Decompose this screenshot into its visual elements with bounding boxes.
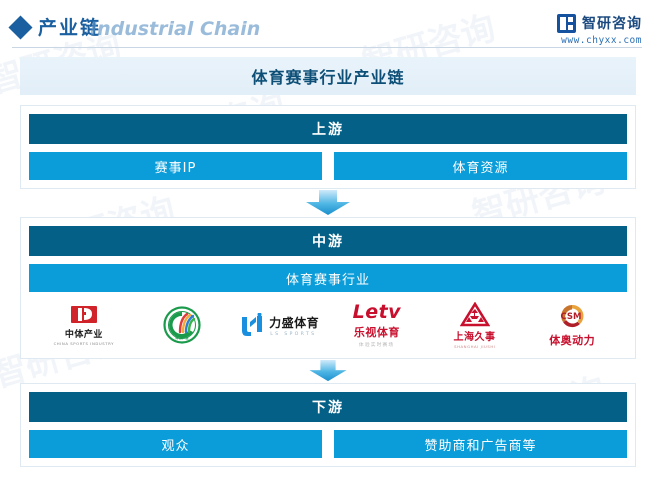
header-divider — [12, 47, 642, 48]
chart-title: 体育赛事行业产业链 — [20, 57, 636, 95]
green-emblem-logo-icon: 体育产业 — [163, 306, 201, 344]
csm-tiao-dongli-logo-icon: CSM — [555, 303, 589, 330]
stage-header-midstream: 中游 — [29, 226, 627, 256]
stage-downstream: 下游 观众 赞助商和广告商等 — [20, 383, 636, 467]
company-logo-letv-sports[interactable]: Letv 乐视体育 体验实时赛场 — [328, 303, 426, 348]
company-logo-green-emblem[interactable]: 体育产业 — [133, 306, 231, 344]
company-name-en: CHINA SPORTS INDUSTRY — [54, 341, 114, 346]
company-logo-zhongti-chanye[interactable]: 中体产业 CHINA SPORTS INDUSTRY — [35, 304, 133, 346]
industrial-chain-chart: 体育赛事行业产业链 上游 赛事IP 体育资源 中游 体育赛事行业 — [0, 57, 656, 467]
svg-text:体育产业: 体育产业 — [174, 335, 189, 340]
company-name-cn: 乐视体育 — [354, 324, 400, 340]
zhongti-chanye-logo-icon — [69, 304, 99, 326]
company-name-en: SHANGHAI JIUSHI — [454, 344, 495, 349]
brand-url: www.chyxx.com — [561, 35, 642, 46]
lisheng-sports-logo-icon — [239, 313, 265, 337]
stage-header-upstream: 上游 — [29, 114, 627, 144]
company-logo-csm-tiao-dongli[interactable]: CSM 体奥动力 — [523, 303, 621, 348]
midstream-company-logos: 中体产业 CHINA SPORTS INDUSTRY 体育产业 — [29, 298, 627, 350]
midstream-item-main[interactable]: 体育赛事行业 — [29, 264, 627, 292]
brand-logo: 智研咨询 www.chyxx.com — [557, 13, 642, 46]
downstream-items: 观众 赞助商和广告商等 — [29, 430, 627, 458]
company-tagline: 体验实时赛场 — [359, 341, 394, 348]
upstream-items: 赛事IP 体育资源 — [29, 152, 627, 180]
upstream-item-0[interactable]: 赛事IP — [29, 152, 322, 180]
company-name-cn: 力盛体育 — [269, 314, 319, 331]
diamond-icon — [8, 15, 32, 39]
company-name-en: Letv — [353, 303, 401, 322]
stage-header-downstream: 下游 — [29, 392, 627, 422]
downstream-item-0[interactable]: 观众 — [29, 430, 322, 458]
down-arrow-icon — [304, 190, 352, 216]
brand-logo-row: 智研咨询 — [557, 13, 642, 33]
stage-midstream: 中游 体育赛事行业 中体产业 CHINA SPORTS INDUSTRY — [20, 217, 636, 359]
arrow-upstream-to-midstream — [20, 189, 636, 217]
downstream-item-1[interactable]: 赞助商和广告商等 — [334, 430, 627, 458]
company-logo-shanghai-jiushi[interactable]: 上海久事 SHANGHAI JIUSHI — [426, 302, 524, 349]
section-label-group: 产业链 Industrial Chain — [12, 13, 101, 40]
company-name-cn: 中体产业 — [65, 327, 103, 340]
page-subtitle-en: Industrial Chain — [90, 18, 260, 40]
down-arrow-icon — [306, 360, 350, 382]
company-name-cn: 体奥动力 — [549, 332, 595, 348]
company-name-cn: 上海久事 — [454, 328, 496, 343]
company-logo-lisheng-sports[interactable]: 力盛体育 LS SPORTS — [230, 313, 328, 337]
svg-text:CSM: CSM — [561, 312, 582, 322]
zhiyan-logo-icon — [557, 14, 576, 33]
brand-name: 智研咨询 — [582, 13, 642, 33]
arrow-midstream-to-downstream — [20, 359, 636, 383]
company-name-en: LS SPORTS — [270, 331, 316, 337]
stage-upstream: 上游 赛事IP 体育资源 — [20, 105, 636, 189]
page-header: 产业链 Industrial Chain 智研咨询 www.chyxx.com — [0, 0, 656, 57]
shanghai-jiushi-logo-icon — [460, 302, 490, 327]
upstream-item-1[interactable]: 体育资源 — [334, 152, 627, 180]
